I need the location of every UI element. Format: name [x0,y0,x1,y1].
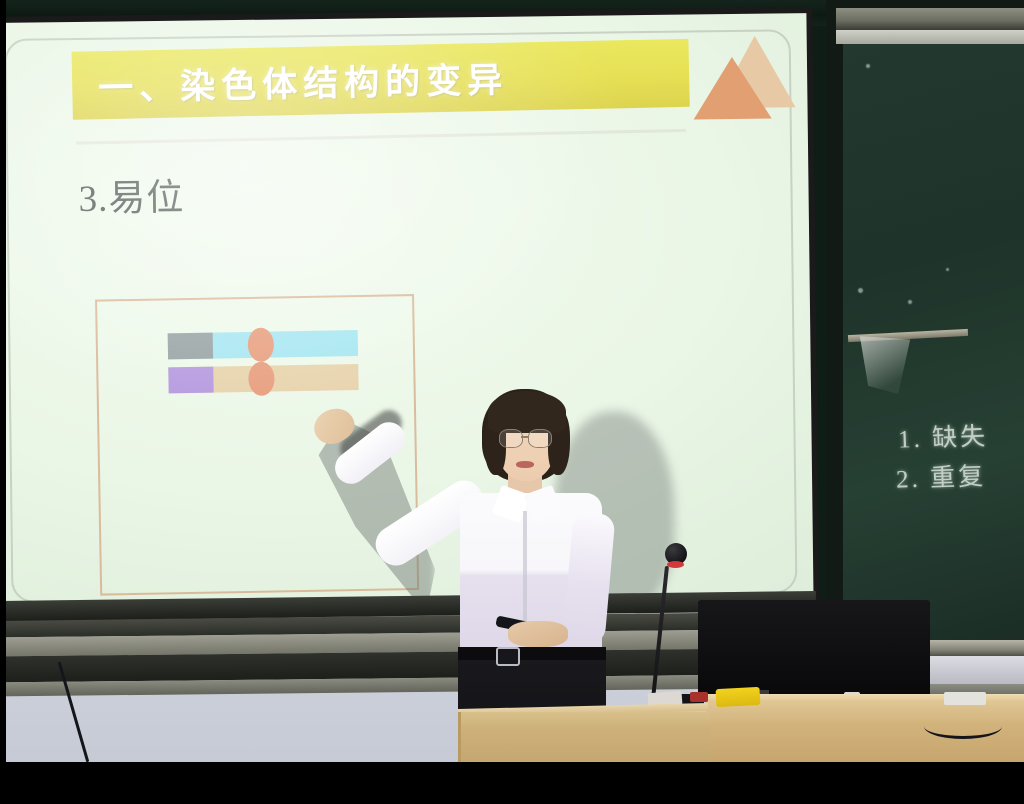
desk-cable [924,714,1002,739]
blouse-button-placket [523,511,527,633]
chalk-mark [866,64,870,68]
slide-title-banner: 一、染色体结构的变异 [72,39,690,120]
chalk-mark [946,268,949,271]
slide-title: 一、染色体结构的变异 [98,51,509,111]
microphone-indicator-ring [667,561,684,568]
glasses-right-lens-icon [528,429,552,448]
triangle-front-icon [693,57,772,120]
glasses-bridge-icon [521,436,528,438]
monitor-rear-panel [698,600,930,702]
chalk-mark [908,300,912,304]
bottom-letterbox [0,762,1024,804]
chromosome-top-centromere [248,328,275,362]
chromosome-bottom-segment [168,367,213,394]
desk-yellow-object [716,687,761,707]
chalk-note-2: 2. 重复 [895,456,986,495]
presenter-mouth [516,461,534,468]
blackboard-top-trim [836,30,1024,44]
presenter-fringe [488,391,566,433]
chromosome-bottom-centromere [248,362,275,396]
left-edge-border [0,0,6,804]
classroom-photo-scene: 1. 缺失 2. 重复 一、染色体结构的变异 3.易位 [0,0,1024,804]
blackboard-top-ledge [836,8,1024,30]
glasses-left-lens-icon [499,429,523,448]
chalk-mark [858,288,863,293]
desk-white-object [944,692,986,705]
chromosome-top-row [168,330,358,359]
presenter-belt [458,647,606,660]
presenter-hands [508,621,568,647]
chalk-note-1: 1. 缺失 [897,416,988,455]
lectern [458,712,711,768]
belt-buckle [496,647,520,666]
chromosome-top-segment [168,333,213,360]
desk-red-object [690,692,708,702]
slide-subtitle: 3.易位 [78,167,184,222]
